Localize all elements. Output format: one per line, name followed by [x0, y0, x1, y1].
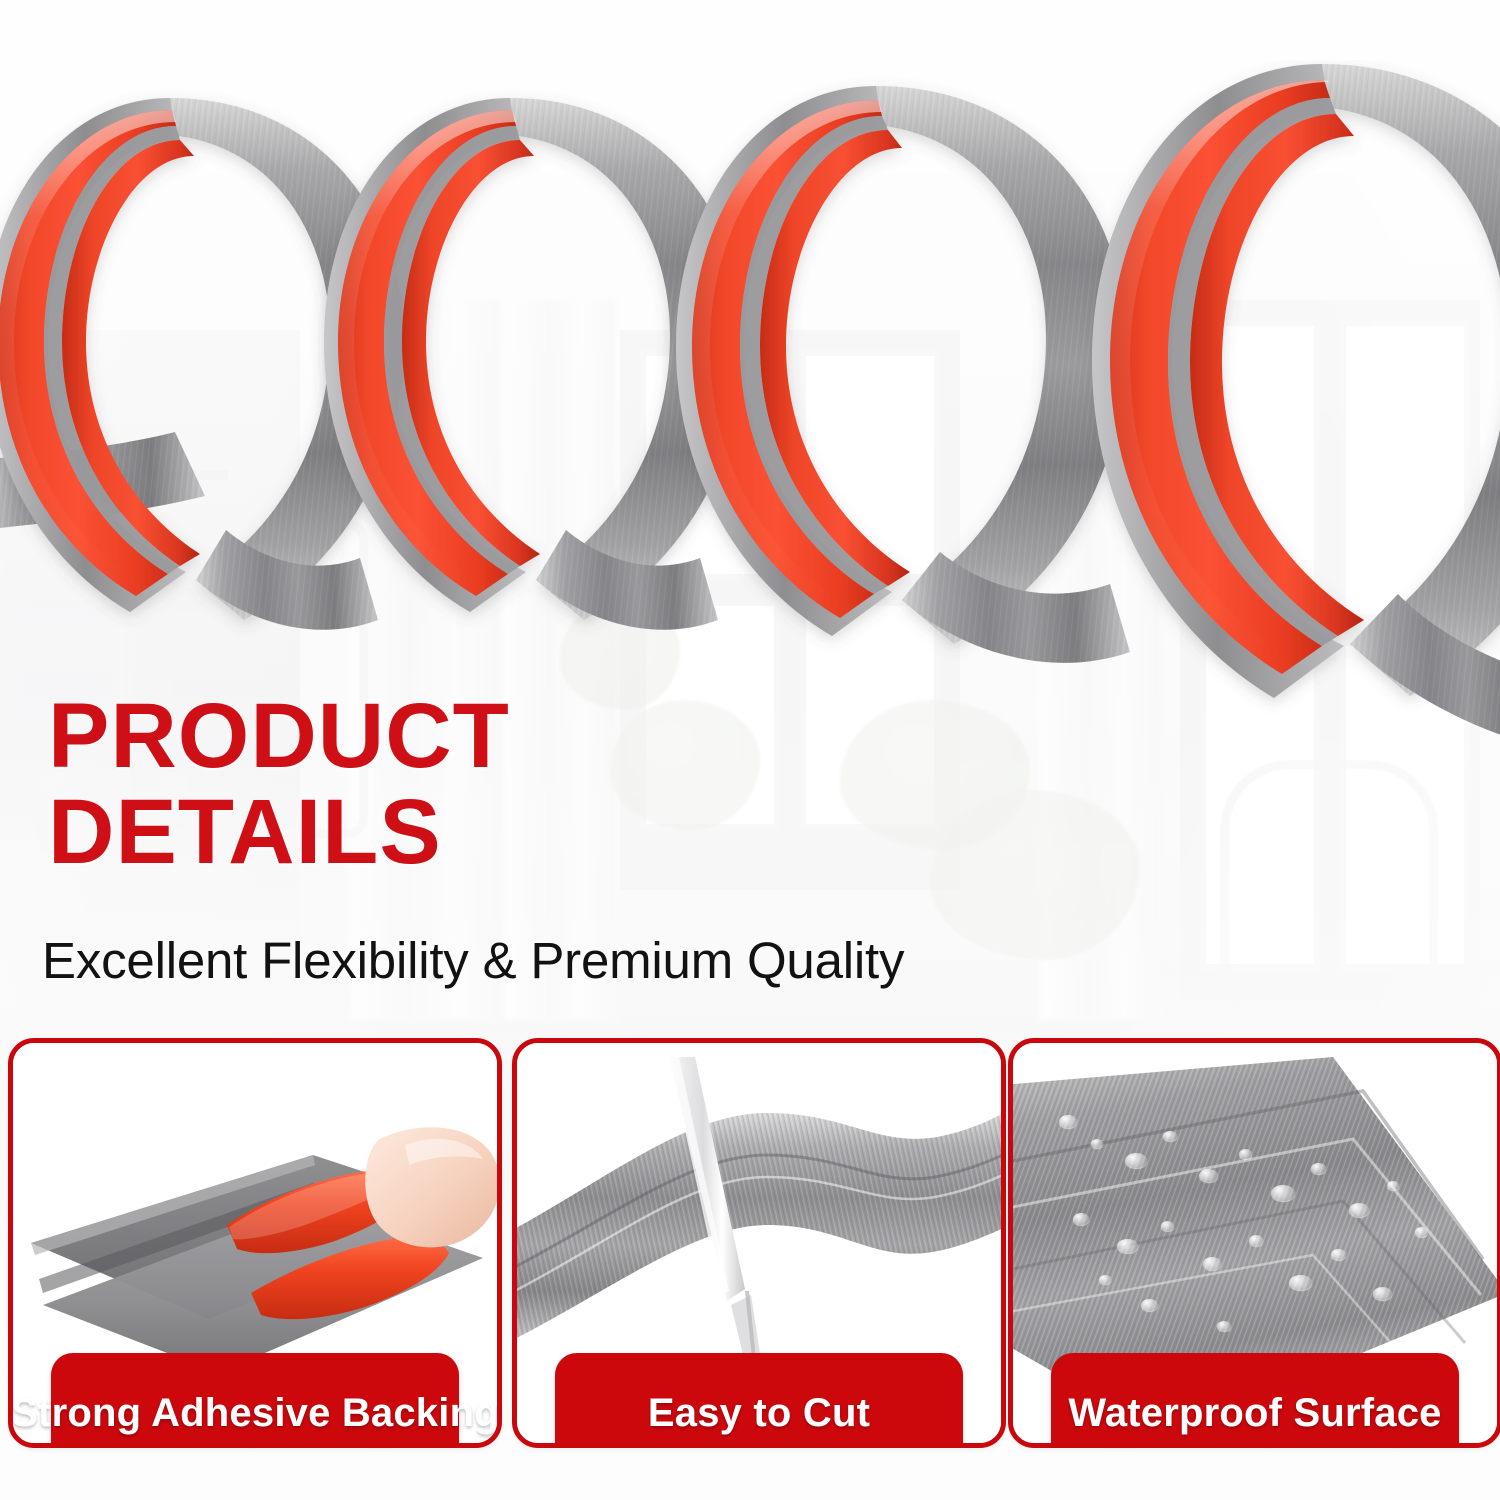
product-detail-banner: PRODUCT DETAILS Excellent Flexibility & … — [0, 0, 1500, 1500]
water-droplet — [1125, 1153, 1147, 1168]
feature-card-adhesive[interactable]: Strong Adhesive Backing — [8, 1038, 502, 1448]
water-droplet — [1117, 1239, 1138, 1253]
feature-caption-adhesive: Strong Adhesive Backing — [51, 1353, 459, 1448]
headline-block: PRODUCT DETAILS — [48, 688, 728, 880]
feature-caption-text: Easy to Cut — [648, 1391, 870, 1436]
subheadline: Excellent Flexibility & Premium Quality — [42, 930, 904, 992]
water-droplet — [1349, 1203, 1369, 1217]
water-droplet — [1331, 1249, 1346, 1260]
water-droplet — [1199, 1169, 1218, 1182]
feature-caption-text: Waterproof Surface — [1068, 1391, 1441, 1436]
feature-caption-waterproof: Waterproof Surface — [1051, 1353, 1459, 1448]
water-droplet — [1203, 1257, 1221, 1270]
coil-loop-4 — [1092, 64, 1500, 698]
water-droplet — [1289, 1275, 1312, 1290]
headline-line-2: DETAILS — [48, 784, 728, 880]
feature-card-cut[interactable]: Easy to Cut — [512, 1038, 1006, 1448]
feature-caption-cut: Easy to Cut — [555, 1353, 963, 1448]
feature-card-row: Strong Adhesive Backing — [0, 1038, 1500, 1478]
feature-caption-text: Strong Adhesive Backing — [11, 1391, 499, 1436]
water-droplet — [1239, 1149, 1252, 1159]
water-droplet — [1249, 1235, 1263, 1246]
water-droplet — [1373, 1287, 1392, 1300]
water-droplet — [1163, 1131, 1177, 1141]
water-droplet — [1271, 1185, 1295, 1201]
water-droplet — [1073, 1213, 1089, 1225]
water-droplet — [1091, 1139, 1103, 1148]
water-droplet — [1387, 1181, 1399, 1190]
feature-card-waterproof[interactable]: Waterproof Surface — [1008, 1038, 1500, 1448]
water-droplet — [1141, 1299, 1158, 1311]
headline-line-1: PRODUCT — [48, 688, 728, 784]
water-droplet — [1311, 1163, 1326, 1174]
water-droplet — [1415, 1227, 1428, 1237]
coil-loop-3 — [676, 86, 1126, 644]
water-droplet — [1161, 1221, 1174, 1231]
water-droplet — [1099, 1275, 1111, 1284]
water-droplet — [1059, 1115, 1077, 1128]
water-droplet — [1217, 1321, 1231, 1331]
